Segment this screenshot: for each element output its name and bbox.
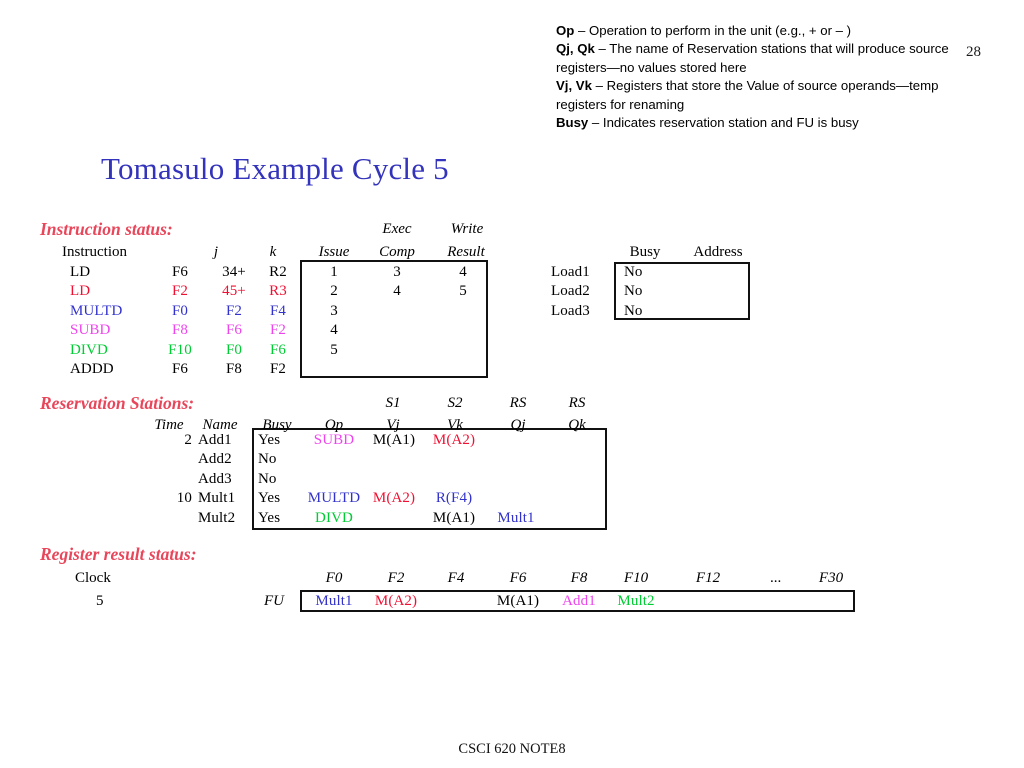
register-column-header: F8 [548,570,610,587]
rs-header-rs2-upper: RS [549,395,605,412]
instr-row-k: F4 [259,303,297,320]
instr-row-k: F2 [259,322,297,339]
rs-row-op: SUBD [302,432,366,449]
register-column-header: ... [745,570,807,587]
instr-header-issue: Issue [303,244,365,261]
load-row-busy: No [624,264,643,281]
register-column-header: F2 [365,570,427,587]
instr-row-issue: 3 [303,303,365,320]
instr-row-j: 34+ [212,264,256,281]
instr-row-j: F0 [212,342,256,359]
load-header-busy: Busy [614,244,676,261]
legend-line-op: Op – Operation to perform in the unit (e… [556,22,956,40]
register-column-header: F4 [425,570,487,587]
rs-header-s1-upper: S1 [365,395,421,412]
rs-header-qj: Qj [490,417,546,434]
instr-row-issue: 5 [303,342,365,359]
instr-header-k: k [253,244,293,261]
rs-row-busy: No [258,471,277,488]
register-clock-value: 5 [96,593,104,610]
rs-row-vk: M(A1) [425,510,483,527]
legend-term-q: Qj, Qk [556,41,595,56]
instr-row-k: F6 [259,342,297,359]
instr-row-op: MULTD [70,303,122,320]
instr-row-j: F8 [212,361,256,378]
legend-text-q: – The name of Reservation stations that … [556,41,949,74]
reservation-stations-heading: Reservation Stations: [40,393,194,414]
rs-row-name: Add1 [198,432,232,449]
instr-row-op: LD [70,283,90,300]
instr-row-issue: 1 [303,264,365,281]
rs-row-vj: M(A2) [368,490,420,507]
instr-header-instruction: Instruction [62,244,127,261]
page-number: 28 [966,44,981,61]
load-row-busy: No [624,283,643,300]
instr-row-op: DIVD [70,342,108,359]
instr-header-write-upper: Write [430,221,504,238]
legend-line-q: Qj, Qk – The name of Reservation station… [556,40,956,77]
register-clock-label: Clock [75,570,111,587]
rs-header-qk: Qk [549,417,605,434]
rs-row-op: MULTD [302,490,366,507]
register-column-header: F0 [303,570,365,587]
rs-row-time: 10 [146,490,192,507]
load-header-address: Address [678,244,758,261]
page-title: Tomasulo Example Cycle 5 [101,151,449,187]
instr-row-result: 5 [428,283,498,300]
legend-note-block: Op – Operation to perform in the unit (e… [556,22,956,132]
instr-row-k: R3 [259,283,297,300]
instr-row-dest: F6 [159,361,201,378]
instr-row-k: R2 [259,264,297,281]
rs-row-name: Mult2 [198,510,235,527]
register-fu-value: Mult2 [605,593,667,610]
instr-header-j: j [196,244,236,261]
legend-line-busy: Busy – Indicates reservation station and… [556,114,956,132]
instr-row-dest: F6 [159,264,201,281]
register-column-header: F12 [677,570,739,587]
instr-row-op: ADDD [70,361,114,378]
instr-header-result: Result [429,244,503,261]
register-fu-value: Mult1 [303,593,365,610]
instr-row-j: F6 [212,322,256,339]
instr-row-dest: F8 [159,322,201,339]
register-fu-value: M(A1) [487,593,549,610]
register-fu-value: Add1 [548,593,610,610]
instr-row-op: LD [70,264,90,281]
register-column-header: F30 [800,570,862,587]
legend-term-op: Op [556,23,574,38]
rs-header-s2-upper: S2 [427,395,483,412]
legend-term-busy: Busy [556,115,588,130]
legend-text-v: – Registers that store the Value of sour… [556,78,938,111]
instr-row-issue: 2 [303,283,365,300]
legend-line-v: Vj, Vk – Registers that store the Value … [556,77,956,114]
rs-row-name: Add2 [198,451,232,468]
instr-row-comp: 3 [364,264,430,281]
load-row-name: Load3 [551,303,590,320]
rs-row-op: DIVD [302,510,366,527]
rs-row-name: Add3 [198,471,232,488]
footer-text: CSCI 620 NOTE8 [0,741,1024,758]
instr-row-op: SUBD [70,322,110,339]
instr-row-dest: F2 [159,283,201,300]
instr-row-dest: F0 [159,303,201,320]
rs-row-busy: Yes [258,432,280,449]
load-row-name: Load1 [551,264,590,281]
rs-row-busy: Yes [258,490,280,507]
rs-row-busy: Yes [258,510,280,527]
rs-header-rs1-upper: RS [490,395,546,412]
rs-row-vk: R(F4) [425,490,483,507]
instr-row-k: F2 [259,361,297,378]
register-column-header: F10 [605,570,667,587]
rs-row-vj: M(A1) [368,432,420,449]
legend-text-op: – Operation to perform in the unit (e.g.… [574,23,851,38]
instr-row-comp: 4 [364,283,430,300]
rs-row-vk: M(A2) [425,432,483,449]
legend-text-busy: – Indicates reservation station and FU i… [588,115,858,130]
instr-header-comp: Comp [362,244,432,261]
rs-row-time: 2 [146,432,192,449]
register-fu-value: M(A2) [365,593,427,610]
rs-row-qj: Mult1 [487,510,545,527]
instr-row-dest: F10 [159,342,201,359]
register-result-status-heading: Register result status: [40,544,197,565]
load-row-busy: No [624,303,643,320]
instr-row-j: 45+ [212,283,256,300]
instruction-status-heading: Instruction status: [40,219,173,240]
register-fu-label: FU [264,593,284,610]
rs-row-name: Mult1 [198,490,235,507]
instr-row-issue: 4 [303,322,365,339]
load-row-name: Load2 [551,283,590,300]
instr-header-exec-upper: Exec [360,221,434,238]
legend-term-v: Vj, Vk [556,78,592,93]
register-column-header: F6 [487,570,549,587]
instr-row-j: F2 [212,303,256,320]
instr-row-result: 4 [428,264,498,281]
rs-row-busy: No [258,451,277,468]
